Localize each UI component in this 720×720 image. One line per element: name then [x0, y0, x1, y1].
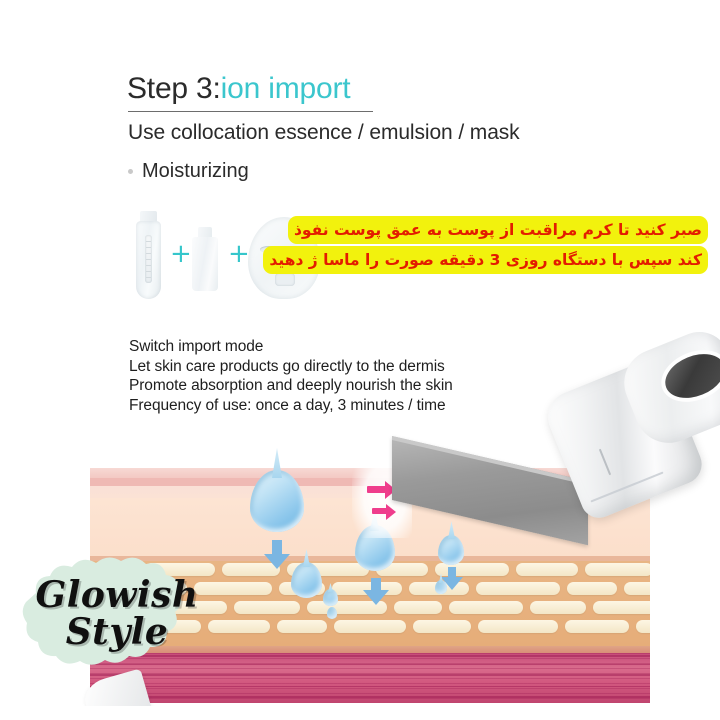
dermis-brick	[636, 620, 650, 633]
dermis-brick	[530, 601, 586, 614]
logo-text: Glowish Style	[22, 555, 212, 673]
farsi-annotation-line-1: صبر کنید تا کرم مراقبت از پوست به عمق پو…	[288, 216, 708, 244]
water-droplet-right	[438, 535, 464, 565]
emulsion-bottle-icon	[192, 227, 218, 291]
dermis-brick	[565, 620, 629, 633]
dermis-brick	[476, 582, 560, 595]
page-title: Step 3:ion import	[127, 72, 350, 106]
dermis-brick	[334, 620, 406, 633]
dermis-brick	[624, 582, 650, 595]
plus-icon-1: +	[170, 241, 192, 267]
dermis-brick	[449, 601, 523, 614]
page-title-step: Step 3:	[127, 72, 221, 105]
water-droplet-mid-left	[291, 562, 322, 598]
dermis-brick	[277, 620, 327, 633]
farsi-annotation-line-2: کند سپس با دستگاه روزی 3 دقیقه صورت را م…	[263, 246, 708, 274]
logo-text-line-1: Glowish	[35, 578, 198, 613]
bullet-dot-icon	[128, 169, 133, 174]
dermis-brick	[567, 582, 617, 595]
dermis-brick	[478, 620, 558, 633]
logo-text-line-2: Style	[66, 615, 169, 650]
water-droplet-large-tip	[272, 448, 282, 478]
dermis-brick	[394, 601, 442, 614]
subheading: Use collocation essence / emulsion / mas…	[128, 121, 520, 145]
dermis-brick	[413, 620, 471, 633]
plus-icon-2: +	[228, 241, 250, 267]
page-title-accent: ion import	[221, 72, 351, 105]
product-infographic-page: Step 3:ion import Use collocation essenc…	[0, 0, 720, 720]
dermis-brick	[516, 563, 578, 576]
instruction-line-1: Switch import mode	[129, 337, 453, 357]
feature-bullet-label: Moisturizing	[142, 160, 249, 183]
dermis-brick	[234, 601, 300, 614]
farsi-annotation: صبر کنید تا کرم مراقبت از پوست به عمق پو…	[316, 216, 708, 276]
dermis-brick	[585, 563, 650, 576]
dermis-brick	[593, 601, 650, 614]
feature-bullet: Moisturizing	[128, 160, 249, 183]
title-divider	[128, 111, 373, 112]
device-spatula-blade	[392, 436, 588, 545]
dermis-brick	[208, 620, 270, 633]
ultrasonic-skin-scrubber-device	[392, 358, 720, 538]
brand-logo: Glowish Style	[22, 555, 212, 673]
absorption-arrow-1	[264, 540, 290, 570]
emulsion-body	[192, 237, 218, 291]
absorption-arrow-2	[363, 578, 389, 606]
bottom-white-edge	[0, 706, 720, 720]
essence-serum-bottle-icon	[135, 211, 162, 301]
water-droplet-tiny-left	[327, 607, 337, 619]
